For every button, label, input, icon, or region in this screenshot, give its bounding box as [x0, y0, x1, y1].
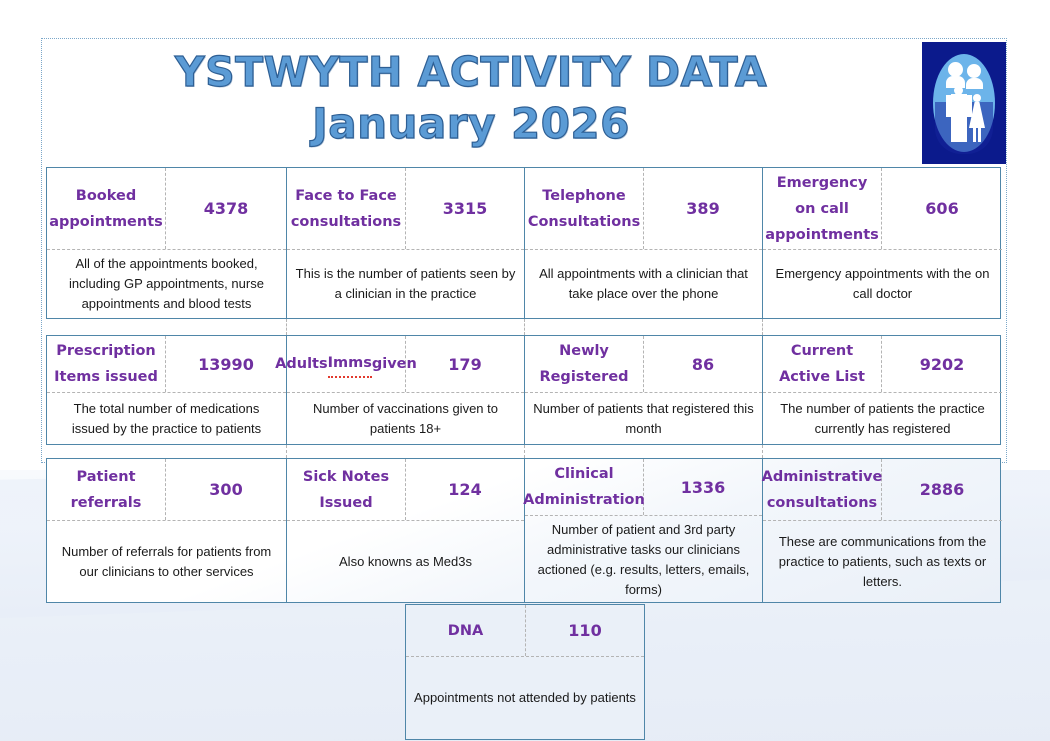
metric-value: 2886 — [882, 459, 1002, 520]
logo-child-torso — [951, 94, 967, 142]
metric-cell: Clinical Administration 1336 Number of p… — [525, 459, 763, 602]
metric-label: Sick Notes Issued — [287, 459, 406, 520]
metric-header-row: Booked appointments 4378 — [47, 168, 286, 250]
gap-tick — [286, 445, 287, 458]
metric-label: Telephone Consultations — [525, 168, 644, 249]
metric-label-misspelled-word: Imms — [328, 350, 372, 378]
metric-header-row: Prescription Items issued 13990 — [47, 336, 286, 393]
metric-description: Appointments not attended by patients — [406, 657, 644, 739]
metric-description: Number of vaccinations given to patients… — [287, 393, 524, 444]
metric-header-row: Current Active List 9202 — [763, 336, 1002, 393]
metric-header-row: Sick Notes Issued 124 — [287, 459, 524, 521]
metric-value: 4378 — [166, 168, 286, 249]
metric-cell: Adults Imms given 179 Number of vaccinat… — [287, 336, 525, 444]
title-block: YSTWYTH ACTIVITY DATA January 2026 — [41, 48, 901, 148]
logo-girl-leg-right — [978, 128, 981, 142]
metric-header-row: Newly Registered 86 — [525, 336, 762, 393]
metric-value: 179 — [406, 336, 524, 392]
metric-header-row: Adults Imms given 179 — [287, 336, 524, 393]
metric-value: 3315 — [406, 168, 524, 249]
gap-tick — [762, 319, 763, 335]
metric-cell: Prescription Items issued 13990 The tota… — [47, 336, 287, 444]
metric-label: Face to Face consultations — [287, 168, 406, 249]
metric-header-row: Clinical Administration 1336 — [525, 459, 762, 516]
metric-description: Emergency appointments with the on call … — [763, 250, 1002, 318]
logo-adult-shoulders-right — [966, 78, 983, 89]
block-gap-strip — [46, 445, 1001, 458]
metric-description: Number of referrals for patients from ou… — [47, 521, 286, 602]
metric-value: 389 — [644, 168, 762, 249]
metric-cell: Sick Notes Issued 124 Also knowns as Med… — [287, 459, 525, 602]
logo-child-arm-left — [946, 95, 951, 117]
block-gap-strip — [46, 319, 1001, 335]
metric-label: Current Active List — [763, 336, 882, 392]
metric-header-row: DNA 110 — [406, 605, 644, 657]
metric-cell: Face to Face consultations 3315 This is … — [287, 168, 525, 318]
metric-label: Booked appointments — [47, 168, 166, 249]
metric-cell: Emergency on call appointments 606 Emerg… — [763, 168, 1002, 318]
logo-girl-leg-left — [973, 128, 976, 142]
metric-cell: Telephone Consultations 389 All appointm… — [525, 168, 763, 318]
metric-cell: Booked appointments 4378 All of the appo… — [47, 168, 287, 318]
metric-header-row: Emergency on call appointments 606 — [763, 168, 1002, 250]
metric-value: 9202 — [882, 336, 1002, 392]
metric-value: 606 — [882, 168, 1002, 249]
metric-cell: Administrative consultations 2886 These … — [763, 459, 1002, 602]
metric-value: 124 — [406, 459, 524, 520]
metric-description: Also knowns as Med3s — [287, 521, 524, 602]
gap-tick — [762, 445, 763, 458]
practice-logo-icon — [922, 42, 1006, 164]
logo-child-arm-right — [967, 95, 972, 117]
gap-tick — [524, 319, 525, 335]
metric-header-row: Face to Face consultations 3315 — [287, 168, 524, 250]
metric-value: 86 — [644, 336, 762, 392]
metric-label: DNA — [406, 605, 526, 656]
metric-description: This is the number of patients seen by a… — [287, 250, 524, 318]
metric-cell: Newly Registered 86 Number of patients t… — [525, 336, 763, 444]
metric-label: Newly Registered — [525, 336, 644, 392]
metric-description: The total number of medications issued b… — [47, 393, 286, 444]
logo-adult-head-left — [948, 62, 963, 77]
metric-description: The number of patients the practice curr… — [763, 393, 1002, 444]
metrics-block-dna: DNA 110 Appointments not attended by pat… — [405, 604, 645, 740]
metrics-block-row-2: Prescription Items issued 13990 The tota… — [46, 335, 1001, 445]
metric-value: 300 — [166, 459, 286, 520]
page-title-line1: YSTWYTH ACTIVITY DATA — [41, 48, 901, 96]
metrics-block-row-3: Patient referrals 300 Number of referral… — [46, 458, 1001, 603]
metric-description: These are communications from the practi… — [763, 521, 1002, 602]
metric-label: Administrative consultations — [763, 459, 882, 520]
logo-girl-head — [973, 94, 981, 102]
metric-label: Emergency on call appointments — [763, 168, 882, 249]
gap-tick — [286, 319, 287, 335]
metric-header-row: Patient referrals 300 — [47, 459, 286, 521]
metric-label: Clinical Administration — [525, 459, 644, 515]
metric-header-row: Administrative consultations 2886 — [763, 459, 1002, 521]
metric-value: 13990 — [166, 336, 286, 392]
metric-value: 1336 — [644, 459, 762, 515]
metric-value: 110 — [526, 605, 644, 656]
metric-description: Number of patients that registered this … — [525, 393, 762, 444]
metric-description: Number of patient and 3rd party administ… — [525, 516, 762, 604]
poster-header: YSTWYTH ACTIVITY DATA January 2026 — [41, 38, 1007, 166]
logo-adult-head-right — [967, 64, 981, 78]
metric-label-part-a: Adults — [275, 351, 327, 377]
metric-label: Adults Imms given — [287, 336, 406, 392]
metric-label: Patient referrals — [47, 459, 166, 520]
gap-tick — [524, 445, 525, 458]
metrics-block-row-1: Booked appointments 4378 All of the appo… — [46, 167, 1001, 319]
metric-description: All of the appointments booked, includin… — [47, 250, 286, 318]
metric-label: Prescription Items issued — [47, 336, 166, 392]
metric-cell: Patient referrals 300 Number of referral… — [47, 459, 287, 602]
metric-cell: Current Active List 9202 The number of p… — [763, 336, 1002, 444]
metric-cell: DNA 110 Appointments not attended by pat… — [406, 605, 644, 739]
page-title-line2: January 2026 — [41, 100, 901, 148]
metric-description: All appointments with a clinician that t… — [525, 250, 762, 318]
metric-header-row: Telephone Consultations 389 — [525, 168, 762, 250]
